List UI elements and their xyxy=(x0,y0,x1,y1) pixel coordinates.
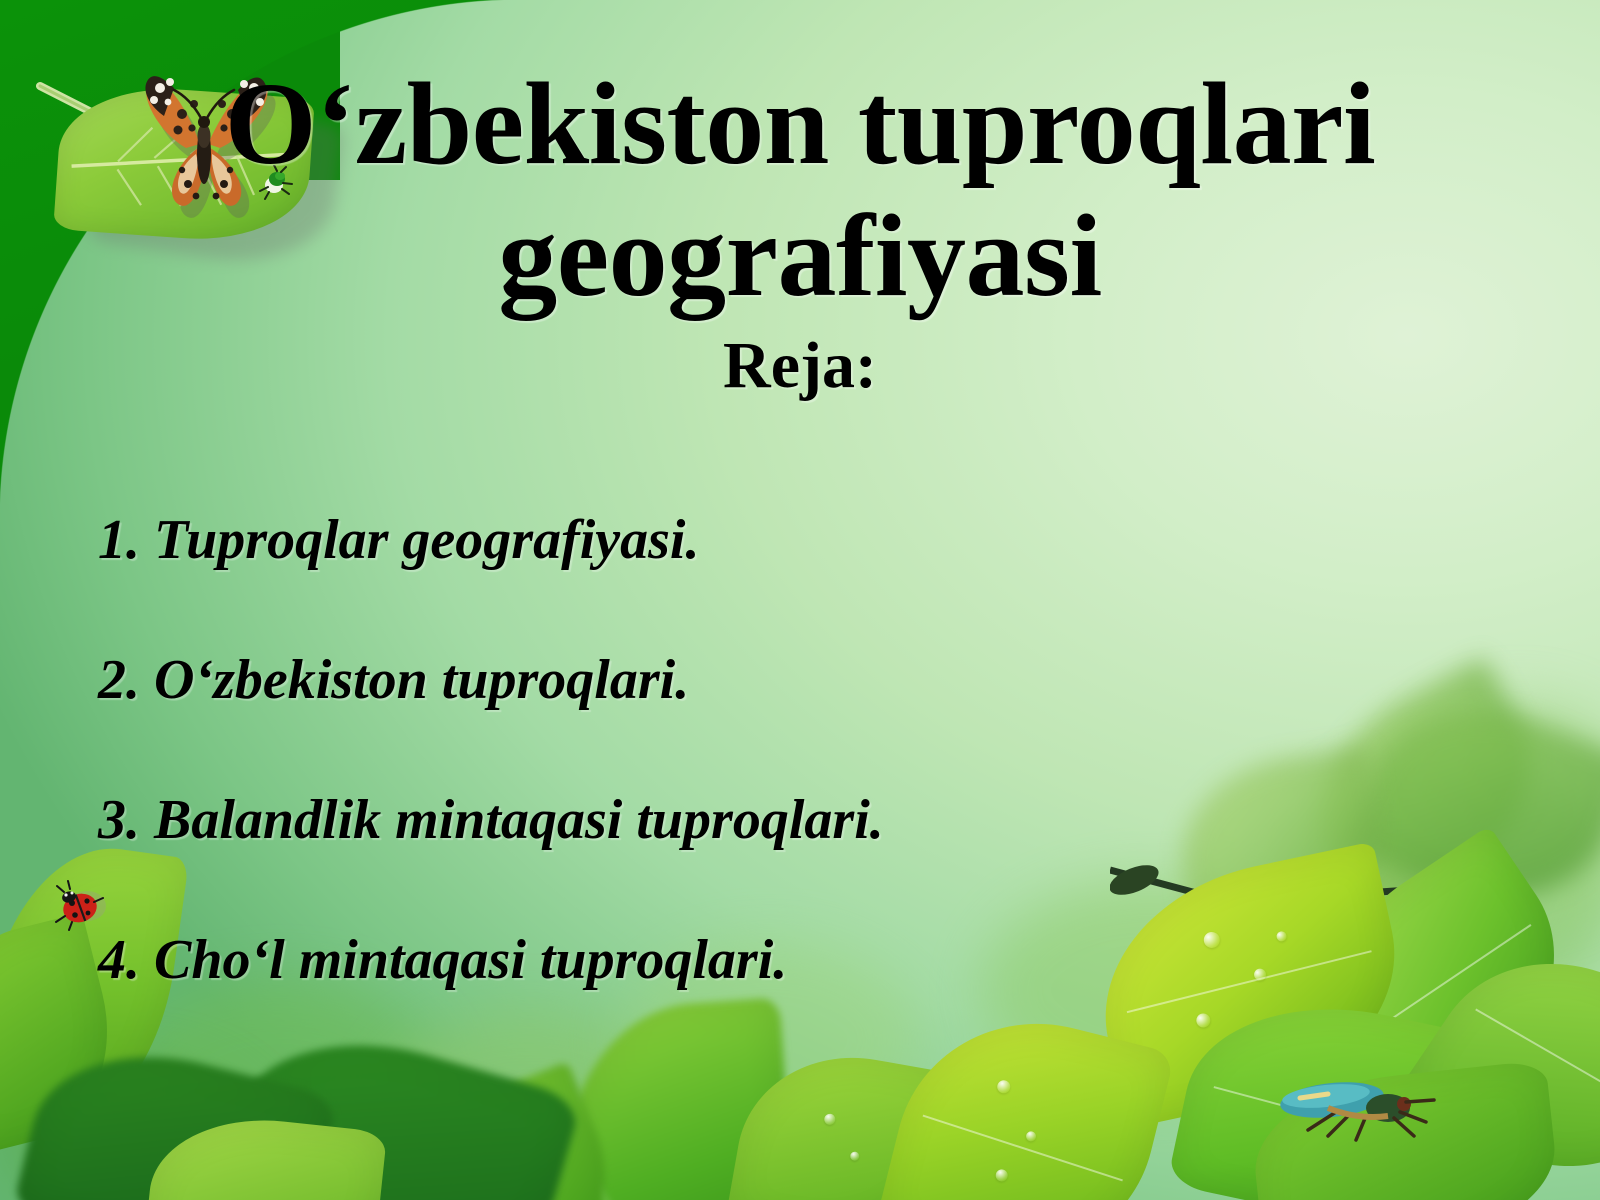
leaf-icon xyxy=(207,1009,582,1200)
presentation-slide: O‘zbekiston tuproqlari geografiyasi Reja… xyxy=(0,0,1600,1200)
list-item-number: 3. xyxy=(98,789,140,851)
leaf-icon xyxy=(1247,1060,1563,1200)
title-line-2: geografiyasi xyxy=(0,190,1600,322)
leaf-icon xyxy=(1167,978,1533,1200)
list-item: 3.Balandlik mintaqasi tuproqlari. xyxy=(98,792,1518,848)
list-item-label: Cho‘l mintaqasi tuproqlari. xyxy=(154,929,787,991)
bokeh-blob xyxy=(120,980,440,1180)
list-item: 1.Tuproqlar geografiyasi. xyxy=(98,512,1518,568)
leaf-icon xyxy=(726,1039,954,1200)
bokeh-blob xyxy=(380,1010,680,1200)
leaf-icon xyxy=(11,1028,338,1200)
list-item-label: Tuproqlar geografiyasi. xyxy=(154,509,699,571)
list-item: 4.Cho‘l mintaqasi tuproqlari. xyxy=(98,932,1518,988)
agenda-heading: Reja: xyxy=(0,328,1600,404)
bokeh-blob xyxy=(0,1060,260,1200)
leaf-icon xyxy=(875,993,1176,1200)
insect-icon xyxy=(1270,1068,1440,1148)
leaf-icon xyxy=(143,1108,387,1200)
slide-title: O‘zbekiston tuproqlari geografiyasi xyxy=(0,58,1600,322)
list-item-number: 4. xyxy=(98,929,140,991)
list-item-number: 1. xyxy=(98,509,140,571)
agenda-list: 1.Tuproqlar geografiyasi. 2.O‘zbekiston … xyxy=(98,512,1518,988)
list-item-label: Balandlik mintaqasi tuproqlari. xyxy=(154,789,884,851)
list-item: 2.O‘zbekiston tuproqlari. xyxy=(98,652,1518,708)
list-item-number: 2. xyxy=(98,649,140,711)
title-line-1: O‘zbekiston tuproqlari xyxy=(0,58,1600,190)
leaf-icon xyxy=(550,997,800,1200)
list-item-label: O‘zbekiston tuproqlari. xyxy=(154,649,689,711)
leaf-icon xyxy=(391,1061,638,1200)
